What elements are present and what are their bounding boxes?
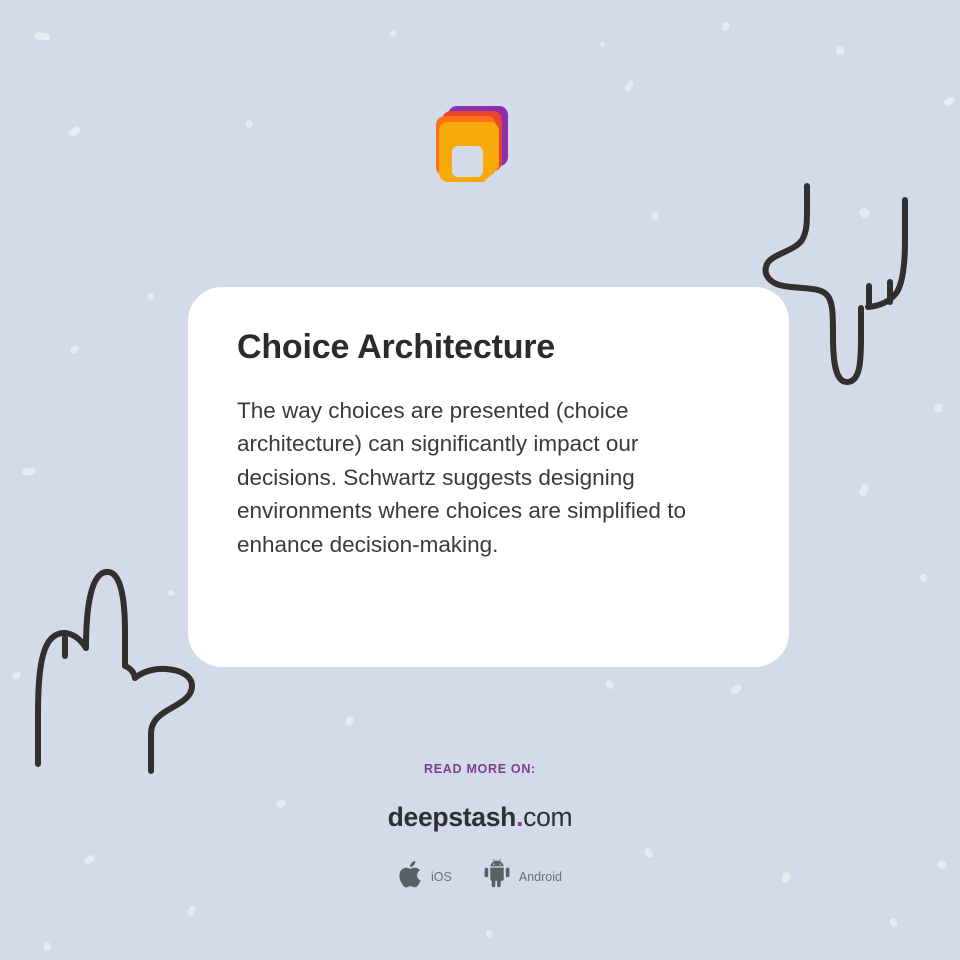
confetti-speck [933,402,945,413]
confetti-speck [146,292,154,300]
confetti-speck [919,573,929,583]
confetti-speck [67,125,82,138]
deepstash-wordmark[interactable]: deepstash.com [0,802,960,833]
app-store-badges: iOS Android [0,859,960,895]
ios-label: iOS [431,870,452,884]
confetti-speck [624,79,635,92]
confetti-speck [604,679,614,690]
deepstash-logo [424,104,520,196]
confetti-speck [244,119,253,129]
confetti-speck [834,44,846,56]
read-more-label: READ MORE ON: [0,762,960,776]
apple-icon [398,859,424,895]
confetti-speck [43,941,53,952]
logo-inner-cutout [452,146,483,177]
confetti-speck [888,917,898,928]
confetti-speck [729,683,743,696]
android-icon [482,859,512,895]
confetti-speck [600,42,605,47]
wordmark-tld: com [523,802,572,832]
poster-footer: READ MORE ON: deepstash.com iOS [0,762,960,895]
confetti-speck [943,96,956,108]
confetti-speck [858,483,870,497]
card-title: Choice Architecture [237,327,741,368]
android-label: Android [519,870,562,884]
confetti-speck [389,29,397,37]
wordmark-brand-name: deepstash [388,802,516,832]
android-app-badge[interactable]: Android [482,859,562,895]
hand-pointing-up-illustration [18,556,208,791]
confetti-speck [69,344,80,355]
deepstash-idea-poster: Choice Architecture The way choices are … [0,0,960,960]
confetti-speck [187,905,197,917]
ios-app-badge[interactable]: iOS [398,859,452,895]
confetti-speck [22,467,37,475]
card-body-text: The way choices are presented (choice ar… [237,394,741,562]
idea-card: Choice Architecture The way choices are … [188,287,789,667]
confetti-speck [650,211,661,222]
confetti-speck [485,929,493,939]
confetti-speck [721,21,730,31]
confetti-speck [34,32,51,41]
confetti-speck [345,715,355,727]
